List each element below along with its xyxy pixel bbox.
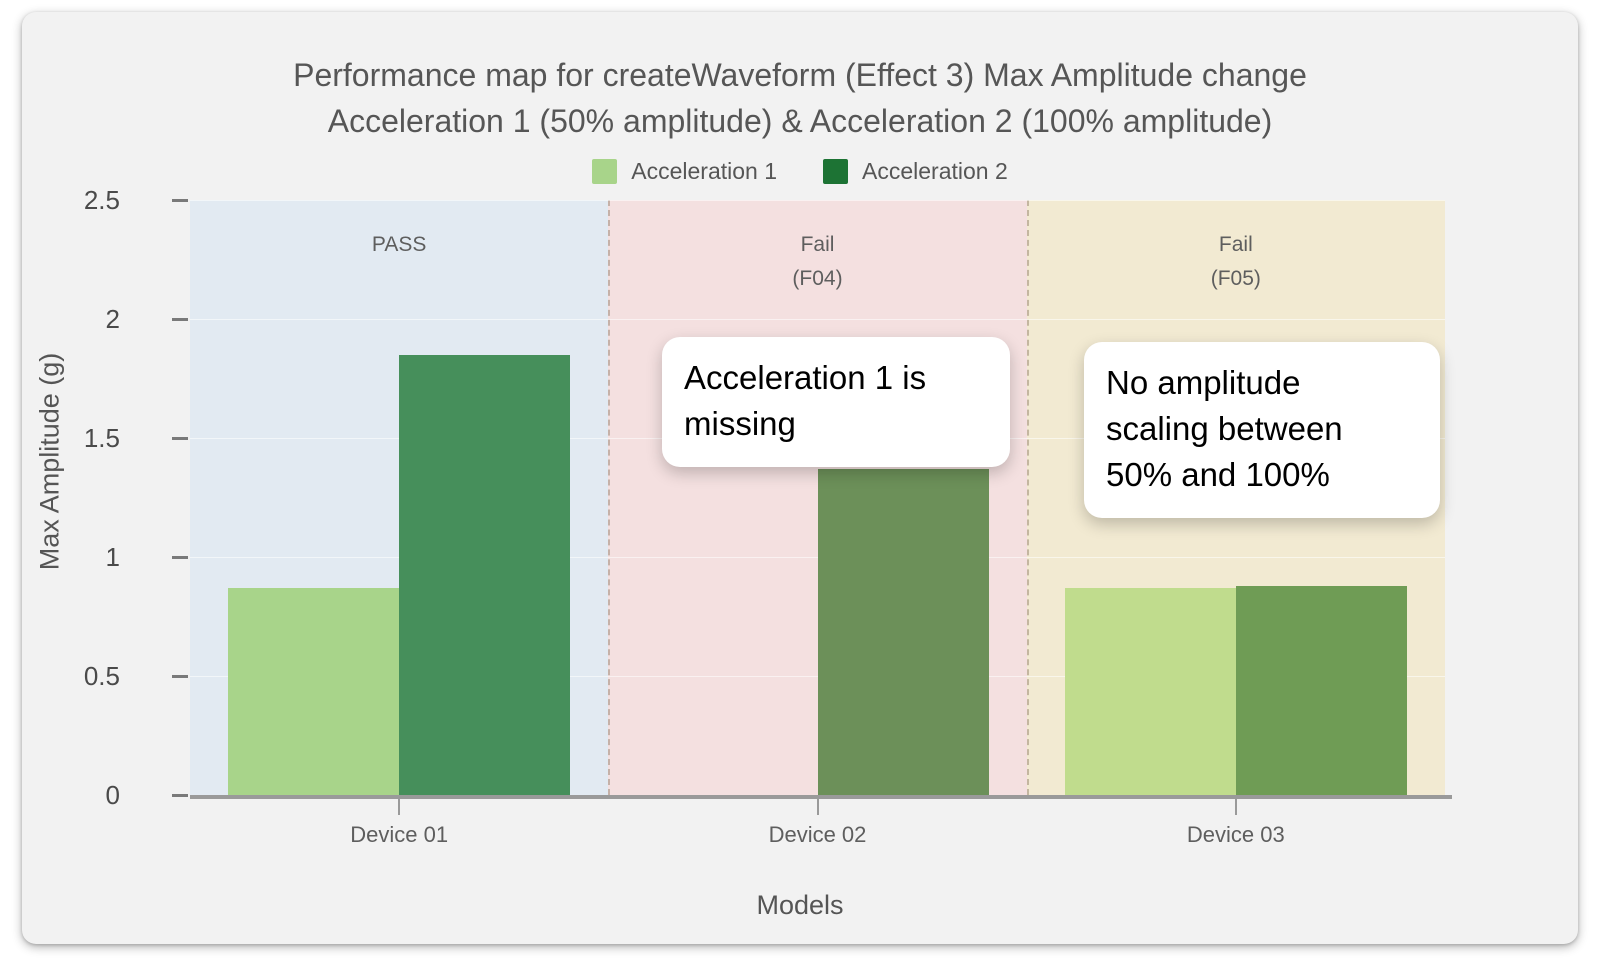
y-axis-tick-label: 0 <box>22 782 120 808</box>
x-axis-tick-label: Device 03 <box>1106 822 1366 848</box>
legend-item-acceleration-1[interactable]: Acceleration 1 <box>592 158 777 185</box>
legend-item-acceleration-2[interactable]: Acceleration 2 <box>823 158 1008 185</box>
legend-label: Acceleration 1 <box>631 158 777 185</box>
region-label: Fail (F04) <box>608 228 1026 296</box>
y-axis-tick <box>172 437 188 440</box>
bar[interactable] <box>1236 586 1407 795</box>
bar[interactable] <box>1065 588 1236 795</box>
chart-card: Performance map for createWaveform (Effe… <box>22 12 1578 944</box>
legend-label: Acceleration 2 <box>862 158 1008 185</box>
y-axis-tick <box>172 675 188 678</box>
region-divider <box>608 200 610 795</box>
legend-swatch-icon <box>592 159 617 184</box>
x-axis-tick <box>817 799 819 815</box>
region-label: Fail (F05) <box>1027 228 1445 296</box>
gridline <box>190 200 1445 201</box>
y-axis-tick <box>172 318 188 321</box>
bar[interactable] <box>399 355 570 795</box>
legend-swatch-icon <box>823 159 848 184</box>
x-axis-tick-label: Device 02 <box>688 822 948 848</box>
annotation-callout-no-scaling: No amplitude scaling between 50% and 100… <box>1084 342 1440 518</box>
x-axis-line <box>190 795 1452 799</box>
y-axis-tick <box>172 199 188 202</box>
y-axis-tick-label: 2.5 <box>22 187 120 213</box>
y-axis-tick <box>172 556 188 559</box>
region-label: PASS <box>190 228 608 262</box>
annotation-callout-acceleration-missing: Acceleration 1 is missing <box>662 337 1010 467</box>
y-axis-tick <box>172 794 188 797</box>
y-axis-title: Max Amplitude (g) <box>35 242 66 682</box>
region-divider <box>1027 200 1029 795</box>
x-axis-tick <box>1235 799 1237 815</box>
x-axis-tick-label: Device 01 <box>269 822 529 848</box>
x-axis-tick <box>398 799 400 815</box>
gridline <box>190 319 1445 320</box>
x-axis-title: Models <box>22 890 1578 921</box>
bar[interactable] <box>818 469 989 795</box>
bar[interactable] <box>228 588 399 795</box>
chart-title: Performance map for createWaveform (Effe… <box>22 52 1578 144</box>
chart-legend: Acceleration 1 Acceleration 2 <box>22 158 1578 185</box>
